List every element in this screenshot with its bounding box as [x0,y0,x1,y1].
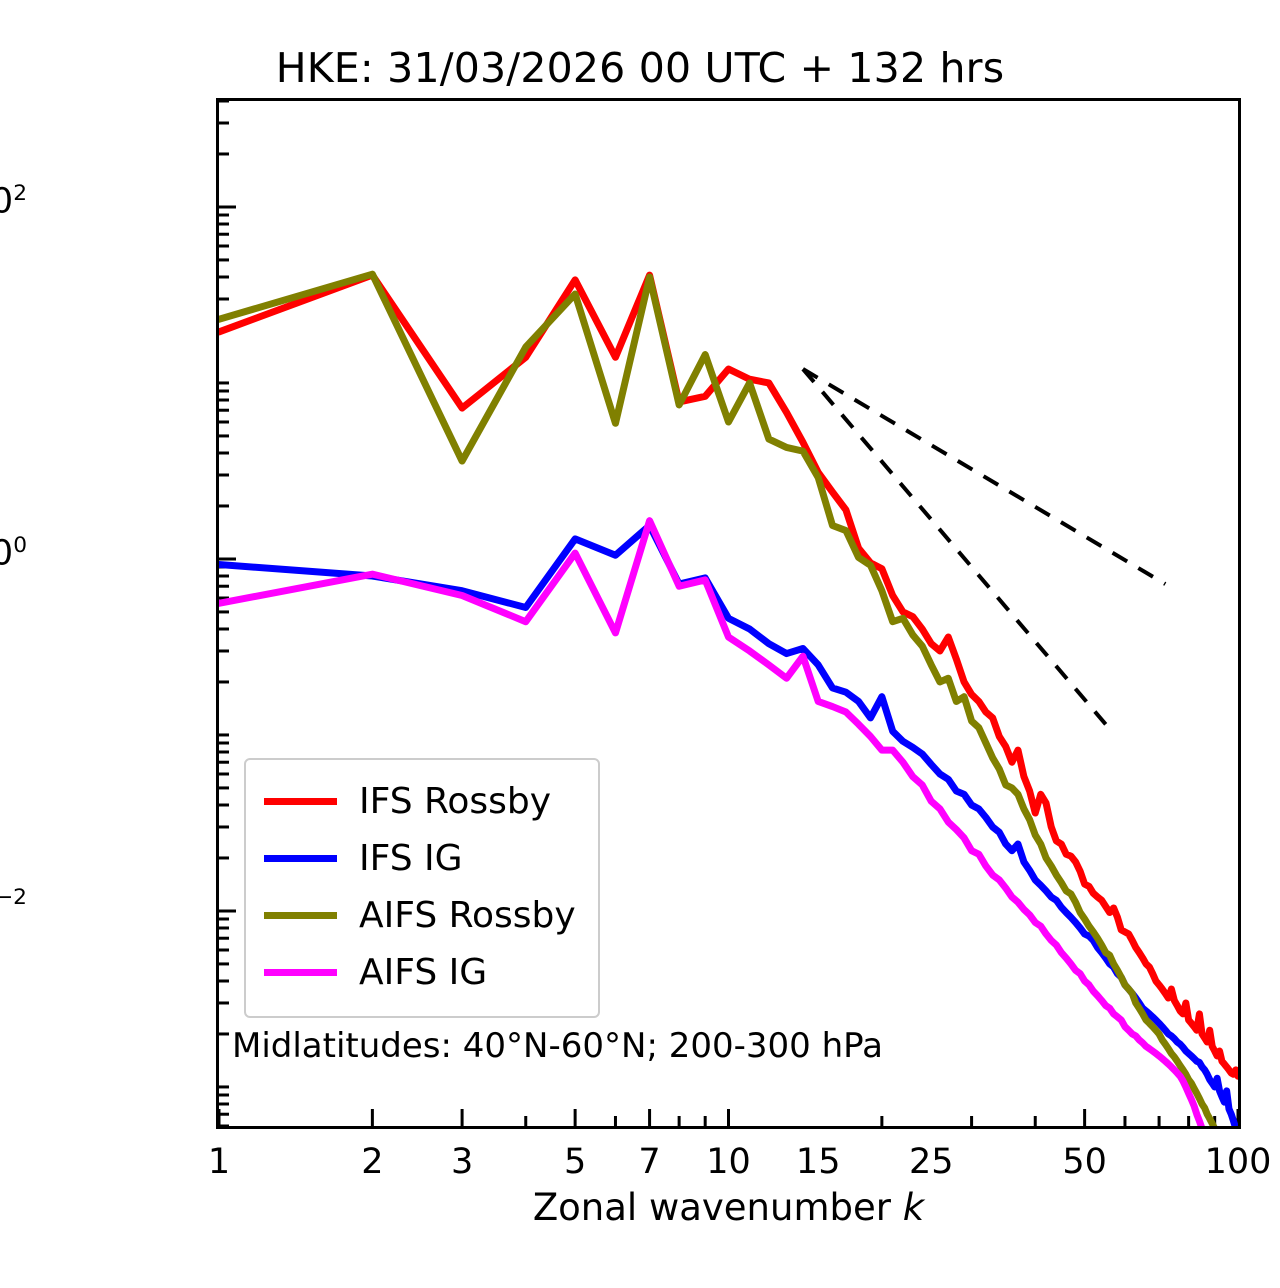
legend-item-label: AIFS Rossby [359,895,576,936]
y-tick-label: 102 [0,183,27,220]
figure-canvas: HKE: 31/03/2026 00 UTC + 132 hrs Horizon… [0,0,1280,1288]
chart-title: HKE: 31/03/2026 00 UTC + 132 hrs [0,44,1280,92]
legend-item-2[interactable]: AIFS Rossby [264,887,576,944]
legend-item-3[interactable]: AIFS IG [264,944,576,1001]
x-axis-label-text: Zonal wavenumber [533,1186,891,1229]
x-axis-label-symbol: k [903,1186,924,1229]
x-tick-label: 1 [159,1142,279,1182]
region-annotation: Midlatitudes: 40°N-60°N; 200-300 hPa [232,1026,883,1066]
legend-color-swatch [264,912,337,919]
x-tick-label: 100 [1178,1142,1280,1182]
legend-item-1[interactable]: IFS IG [264,830,576,887]
legend-color-swatch [264,969,337,976]
y-tick-label: 10−2 [0,887,27,924]
x-tick-label: 25 [871,1142,991,1182]
legend-color-swatch [264,855,337,862]
x-axis-label: Zonal wavenumber k [216,1186,1241,1229]
y-tick-label: 100 [0,535,27,572]
x-tick-label: 50 [1025,1142,1145,1182]
x-tick-label: 3 [402,1142,522,1182]
legend-color-swatch [264,798,337,805]
legend-item-0[interactable]: IFS Rossby [264,773,576,830]
x-tick-label: 15 [758,1142,878,1182]
legend: IFS RossbyIFS IGAIFS RossbyAIFS IG [244,758,600,1018]
legend-item-label: AIFS IG [359,952,487,993]
legend-item-label: IFS IG [359,838,463,879]
legend-item-label: IFS Rossby [359,781,551,822]
